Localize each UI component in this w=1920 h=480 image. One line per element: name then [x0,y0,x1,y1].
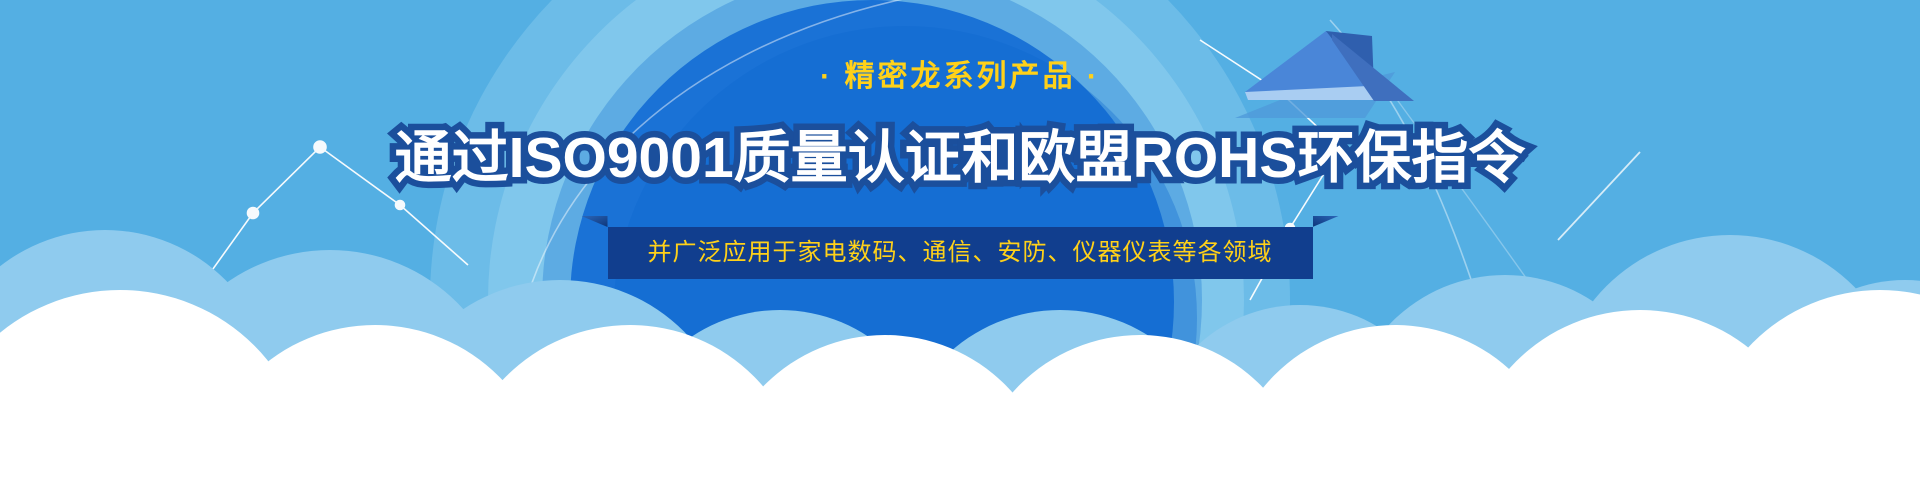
promo-banner: · 精密龙系列产品 · 通过ISO9001质量认证和欧盟ROHS环保指令 通过I… [0,0,1920,480]
cloud-band [0,0,1920,480]
